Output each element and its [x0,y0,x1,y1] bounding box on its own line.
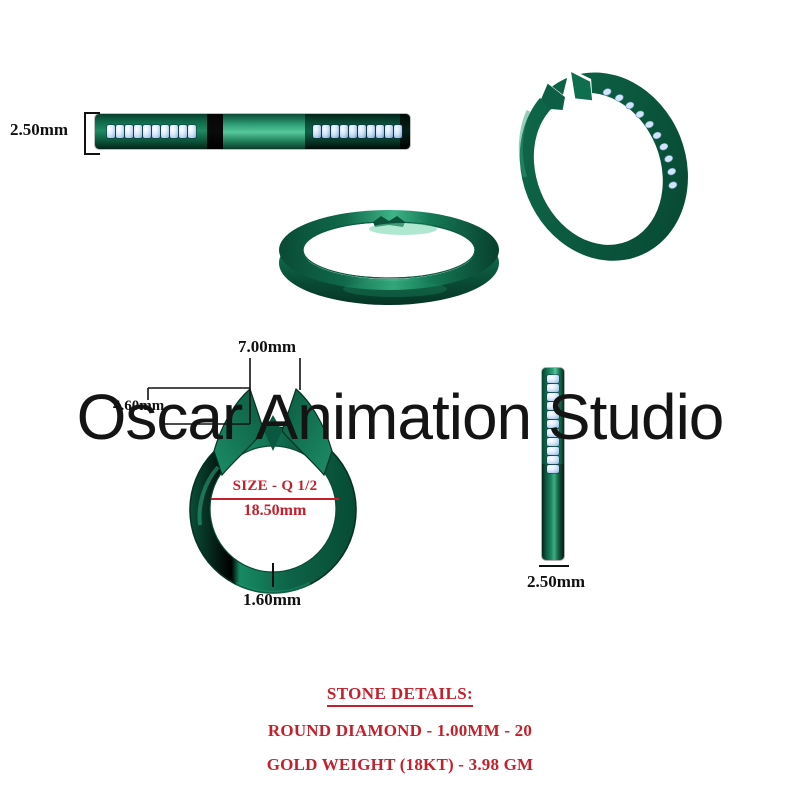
diamond-stone [143,125,151,138]
diamond-stone [170,125,178,138]
diamond-row-left [107,125,196,138]
ring-size-callout: SIZE - Q 1/2 18.50mm [205,478,345,520]
diamond-stone [385,125,393,138]
diamond-stone [322,125,330,138]
ring-inner-diameter-label: 18.50mm [205,502,345,520]
diamond-stone [179,125,187,138]
spec-sheet-canvas: 2.50mm [0,0,800,800]
diamond-column [547,375,559,473]
diamond-stone [367,125,375,138]
dimension-label-band-height-top: 2.50mm [10,120,68,140]
stone-details-line-0: ROUND DIAMOND - 1.00MM - 20 [0,721,800,741]
band-segment-shadow [207,114,223,149]
diamond-stone [547,438,559,446]
diamond-stone [134,125,142,138]
dimension-bracket-band-height [84,112,100,155]
diamond-stone [161,125,169,138]
stone-details-title: STONE DETAILS: [327,684,473,707]
ring-perspective-top-right [495,55,710,270]
diamond-stone [116,125,124,138]
dimension-label-band-width-right: 2.50mm [527,572,585,592]
diamond-stone [547,384,559,392]
diamond-stone [107,125,115,138]
dimension-tick-band-thickness [272,563,274,587]
diamond-stone [547,375,559,383]
diamond-stone [547,393,559,401]
diamond-stone [340,125,348,138]
diamond-stone [547,402,559,410]
diamond-stone [547,420,559,428]
dimension-label-top-width: 7.00mm [238,337,296,357]
diamond-stone [547,465,559,473]
diamond-stone [394,125,402,138]
band-side-right-view [542,368,564,560]
diamond-row-right [313,125,402,138]
diamond-stone [547,411,559,419]
diamond-stone [125,125,133,138]
stone-details-line-1: GOLD WEIGHT (18KT) - 3.98 GM [0,755,800,775]
diamond-stone [188,125,196,138]
diamond-stone [152,125,160,138]
diamond-stone [358,125,366,138]
diamond-stone [376,125,384,138]
diamond-stone [547,447,559,455]
diamond-stone [313,125,321,138]
dimension-label-band-thickness: 1.60mm [243,590,301,610]
ring-perspective-middle [277,205,502,310]
diamond-stone [331,125,339,138]
stone-details-block: STONE DETAILS: ROUND DIAMOND - 1.00MM - … [0,684,800,775]
dimension-label-shoulder-width: 4.60mm [113,398,164,415]
dimension-tick-band-width-right [539,565,569,567]
diamond-stone [547,456,559,464]
band-segment-highlight [223,114,305,149]
watermark-text: Oscar Animation Studio [0,385,800,449]
flat-band-top-view [95,114,410,149]
diamond-stone [349,125,357,138]
ring-size-label: SIZE - Q 1/2 [205,478,345,495]
size-divider-rule [211,498,339,500]
diamond-stone [547,429,559,437]
